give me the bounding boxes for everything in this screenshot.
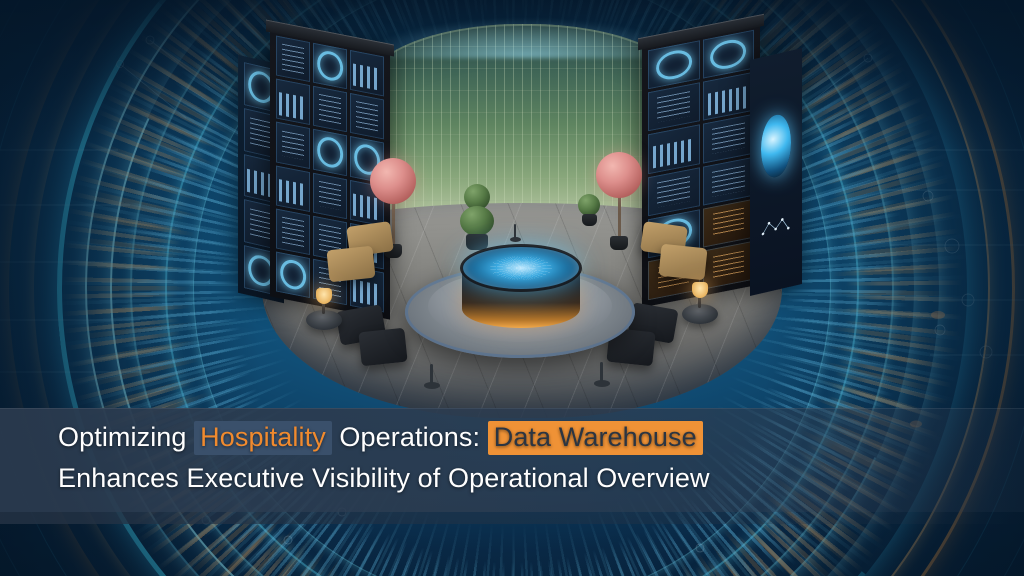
- title-band-bottom-edge: [0, 512, 1024, 524]
- title-line-2: Enhances Executive Visibility of Operati…: [58, 458, 978, 499]
- title-highlight-hospitality: Hospitality: [194, 421, 332, 455]
- hero-banner: Optimizing Hospitality Operations: Data …: [0, 0, 1024, 576]
- title-word-optimizing: Optimizing: [58, 422, 187, 452]
- title-block: Optimizing Hospitality Operations: Data …: [58, 417, 978, 499]
- title-line-1: Optimizing Hospitality Operations: Data …: [58, 417, 978, 458]
- title-word-operations: Operations:: [339, 422, 480, 452]
- title-subtitle-text: Enhances Executive Visibility of Operati…: [58, 463, 710, 493]
- title-highlight-data-warehouse: Data Warehouse: [488, 421, 703, 455]
